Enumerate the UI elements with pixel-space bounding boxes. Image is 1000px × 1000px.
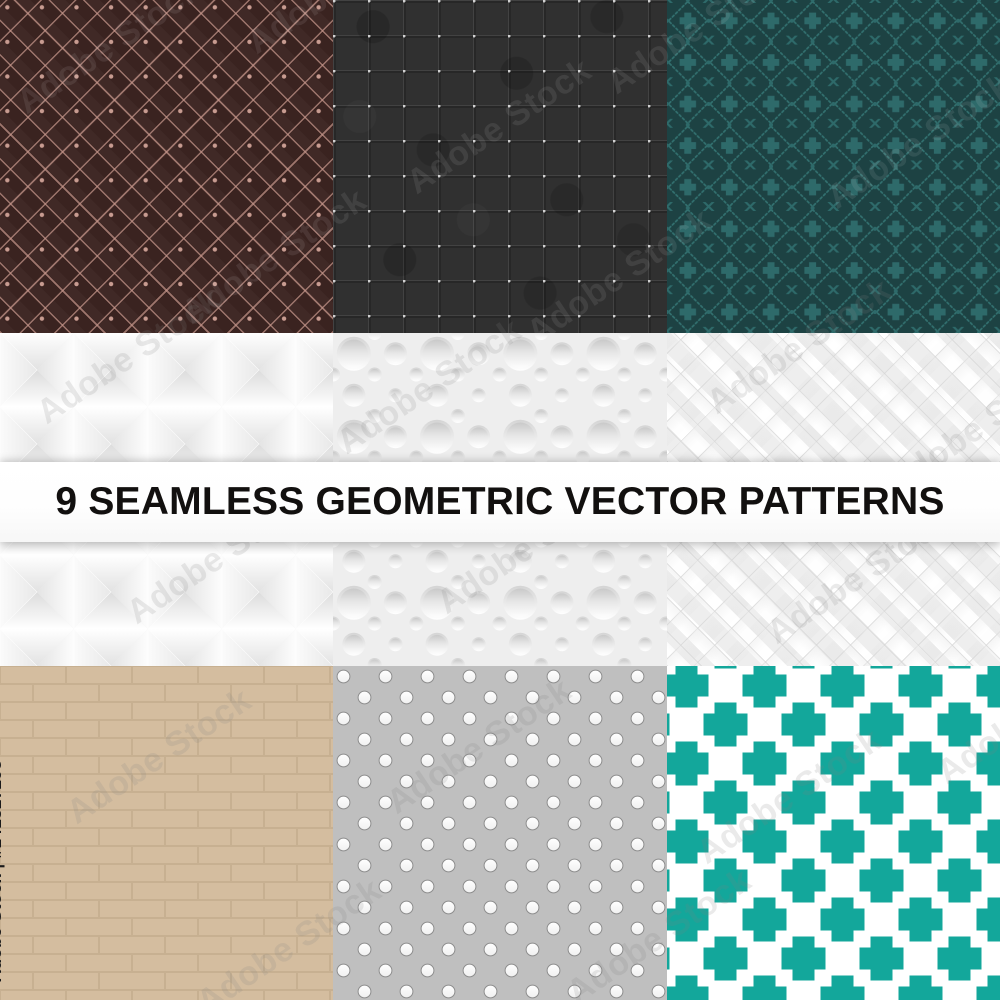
pattern-tile-dark-grey-tile-grid: [333, 0, 667, 333]
page-title: 9 SEAMLESS GEOMETRIC VECTOR PATTERNS: [55, 480, 944, 524]
pattern-tile-dark-teal-cross-diamond: [667, 0, 1000, 333]
pattern-preview-sheet: Adobe Stock Adobe Stock Adobe Stock Adob…: [0, 0, 1000, 1000]
pattern-tile-brown-diagonal-crosshatch: [0, 0, 333, 333]
pattern-tile-teal-interlocking-crosses: [667, 666, 1000, 1000]
stock-credit-label: Adobe Stock | #141827293: [0, 760, 6, 982]
pattern-tile-tan-brick-wall: [0, 666, 333, 1000]
pattern-tile-grey-perforated-metal: [333, 666, 667, 1000]
title-banner: 9 SEAMLESS GEOMETRIC VECTOR PATTERNS: [0, 462, 1000, 542]
